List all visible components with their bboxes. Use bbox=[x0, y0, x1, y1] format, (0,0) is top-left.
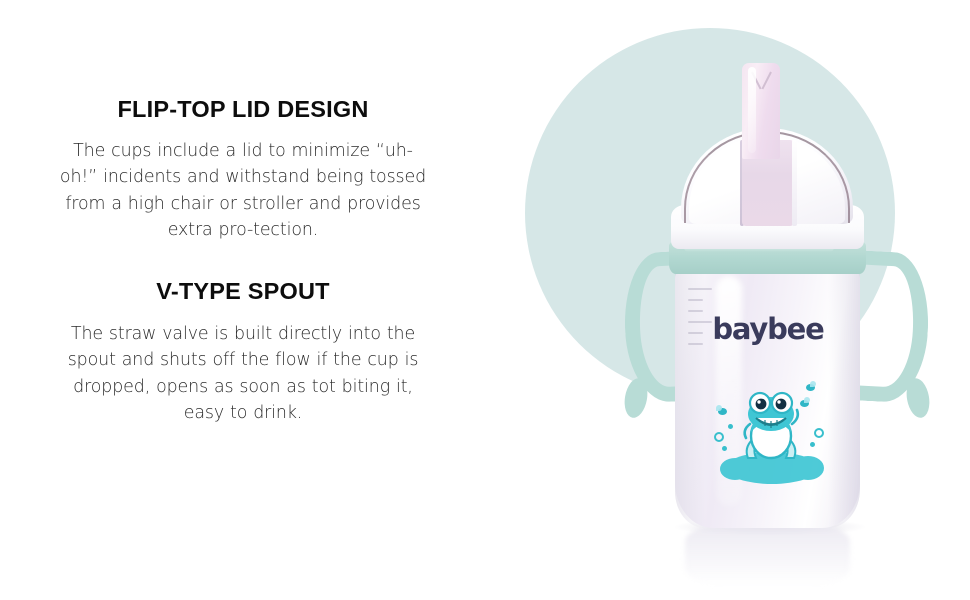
sippy-cup-product: baybee bbox=[470, 0, 970, 600]
decal-dot bbox=[728, 424, 733, 429]
feature-block-flip-top-lid: FLIP-TOP LID DESIGN The cups include a l… bbox=[58, 96, 428, 244]
decal-dot bbox=[722, 446, 727, 451]
feature-body-v-type-spout: The straw valve is built directly into t… bbox=[58, 321, 428, 427]
decal-dot bbox=[810, 442, 815, 447]
product-feature-banner: FLIP-TOP LID DESIGN The cups include a l… bbox=[0, 0, 970, 600]
features-text-column: FLIP-TOP LID DESIGN The cups include a l… bbox=[58, 96, 428, 445]
bee-icon bbox=[804, 382, 817, 391]
bottle-reflection bbox=[685, 524, 850, 586]
flower-icon bbox=[714, 432, 724, 442]
flower-icon bbox=[814, 428, 824, 438]
feature-title-flip-top-lid: FLIP-TOP LID DESIGN bbox=[58, 96, 428, 123]
feature-title-v-type-spout: V-TYPE SPOUT bbox=[58, 278, 428, 305]
frog-icon bbox=[738, 388, 804, 466]
feature-block-v-type-spout: V-TYPE SPOUT The straw valve is built di… bbox=[58, 278, 428, 427]
frog-decal bbox=[712, 380, 832, 495]
feature-body-flip-top-lid: The cups include a lid to minimize “uh-o… bbox=[58, 138, 428, 244]
right-handle-tip bbox=[904, 376, 933, 419]
bee-icon bbox=[716, 406, 729, 415]
brand-logo: baybee bbox=[688, 312, 848, 346]
bee-icon bbox=[798, 398, 811, 407]
spout-highlight bbox=[748, 67, 756, 153]
product-image-scene: baybee bbox=[470, 0, 970, 600]
cup-body-right-shading bbox=[828, 268, 860, 528]
lid-slot-right-edge bbox=[792, 140, 797, 226]
